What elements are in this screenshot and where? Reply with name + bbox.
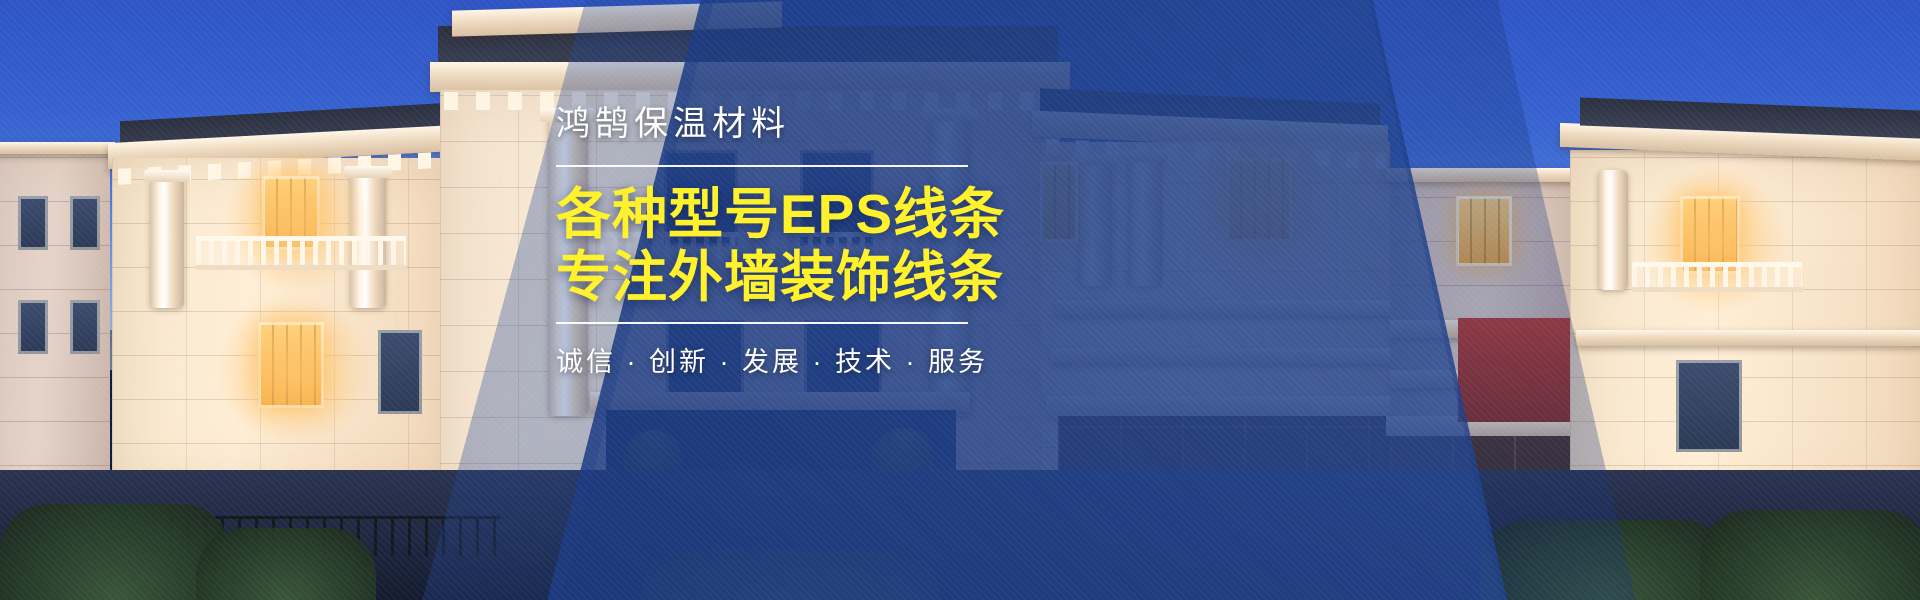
foreground-hedge bbox=[1700, 510, 1920, 600]
brand-name: 鸿鹄保温材料 bbox=[556, 96, 1016, 145]
rightmost-column bbox=[1598, 170, 1628, 290]
slogan-text: 诚信 · 创新 · 发展 · 技术 · 服务 bbox=[556, 340, 1016, 379]
left-wing-balcony-balustrade bbox=[196, 236, 406, 270]
left-wing-lower-window bbox=[258, 322, 324, 408]
neighbor-window bbox=[70, 300, 100, 354]
rightmost-balustrade bbox=[1632, 262, 1802, 292]
left-wing-column-capital bbox=[144, 170, 190, 182]
left-wing-side-window bbox=[378, 330, 422, 414]
banner-copy: 鸿鹄保温材料 各种型号EPS线条 专注外墙装饰线条 诚信 · 创新 · 发展 ·… bbox=[556, 96, 1016, 379]
divider-rule-top bbox=[556, 165, 968, 167]
left-wing-column bbox=[150, 176, 184, 308]
left-wing-column-capital bbox=[344, 166, 392, 178]
foreground-hedge bbox=[196, 528, 376, 600]
neighbor-window bbox=[18, 300, 48, 354]
neighbor-window bbox=[70, 196, 100, 250]
headline-line-2: 专注外墙装饰线条 bbox=[556, 248, 1016, 307]
divider-rule-bottom bbox=[556, 322, 968, 324]
rightmost-lower-window bbox=[1676, 360, 1742, 452]
promo-banner: 鸿鹄保温材料 各种型号EPS线条 专注外墙装饰线条 诚信 · 创新 · 发展 ·… bbox=[0, 0, 1920, 600]
rightmost-band bbox=[1576, 330, 1920, 346]
neighbor-window bbox=[18, 196, 48, 250]
headline-line-1: 各种型号EPS线条 bbox=[556, 185, 1016, 244]
neighbor-cornice bbox=[0, 142, 115, 154]
